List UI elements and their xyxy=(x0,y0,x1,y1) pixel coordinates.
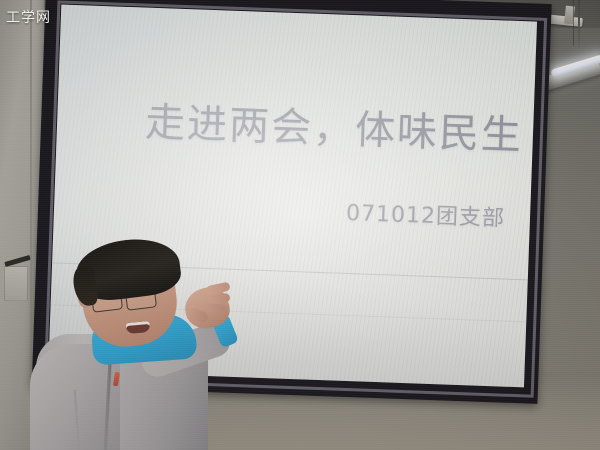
slide-subtitle: 071012团支部 xyxy=(346,195,506,233)
presenter-finger xyxy=(206,304,226,314)
watermark-text: 工学网 xyxy=(6,7,51,27)
lamp-suspension-rod xyxy=(578,0,580,48)
presenter xyxy=(0,240,260,450)
slide-title: 走进两会，体味民生 xyxy=(144,90,524,161)
photo-scene: 走进两会，体味民生 071012团支部 xyxy=(0,0,600,450)
roller-screen-cord xyxy=(573,0,574,46)
